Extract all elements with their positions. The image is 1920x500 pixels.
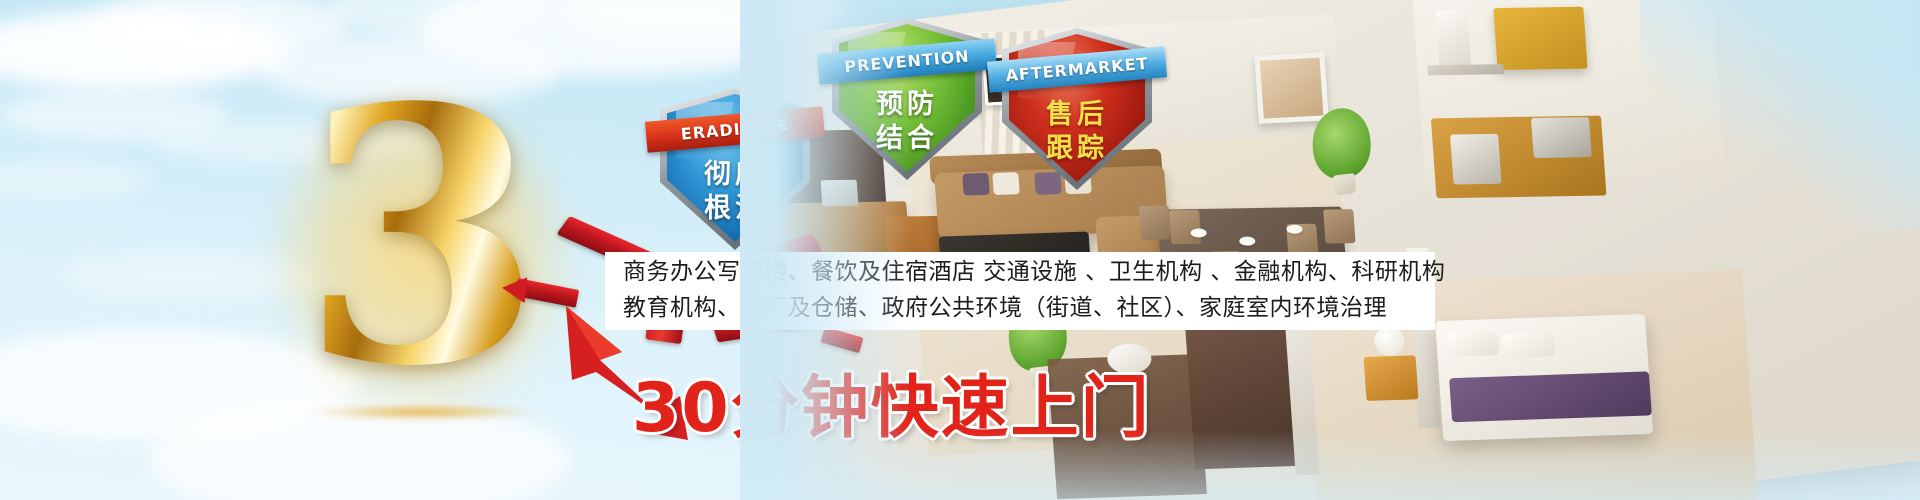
oven [1450,134,1501,185]
pillow [1446,331,1500,357]
image-fade-left [740,0,910,500]
golden-three-numeral: 3 [262,96,582,426]
dining-chair [1139,206,1171,240]
promo-banner: 3 彻底 根治 ERADICATE 预防 结合 [0,0,1920,500]
kitchen-shelf [1427,64,1504,75]
ribbon-tail [501,275,528,303]
dining-chair [1323,209,1355,243]
service-scope-panel: 商务办公写字楼、餐饮及住宿酒店 交通设施 、卫生机构 、金融机构、科研机构 教育… [605,252,1435,330]
pillow [1502,332,1556,358]
potted-plant [1307,91,1376,198]
nightstand [1364,355,1419,401]
kitchen-sink [1531,117,1592,158]
badge-cn-line2: 跟踪 [1002,126,1152,165]
image-fade-bottom [740,430,1920,500]
dining-chair [1169,210,1201,244]
range-hood [1435,10,1471,68]
kitchen-upper-cabinet [1493,7,1587,70]
image-fade-right [1640,0,1920,230]
cloud [0,160,150,200]
badge-banner-text: AFTERMARKET [1005,54,1149,85]
gold-sparkle [308,404,538,420]
numeral-value: 3 [262,62,582,412]
badge-aftermarket: 售后 跟踪 AFTERMARKET [1002,28,1152,190]
bed-throw-blanket [1449,371,1652,422]
